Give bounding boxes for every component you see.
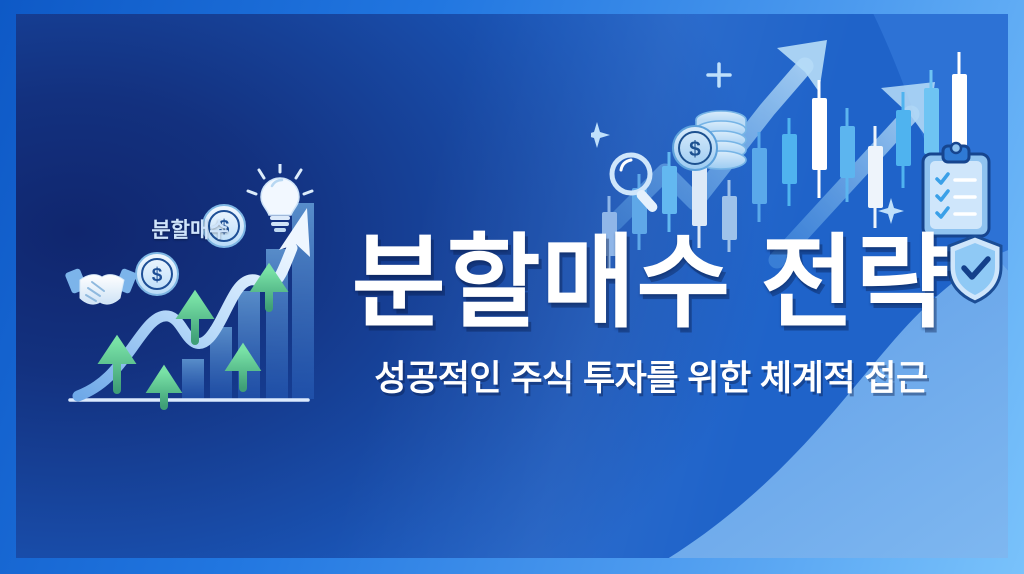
page-subtitle: 성공적인 주식 투자를 위한 체계적 접근	[321, 350, 981, 401]
left-illustration: $ $	[64, 164, 314, 419]
poster-canvas: $ $	[0, 0, 1024, 574]
dollar-coin-icon: $	[136, 253, 178, 295]
clipboard-checklist-icon	[923, 143, 989, 236]
coin-dollar-symbol: $	[152, 265, 163, 286]
coin-stack-dollar-symbol: $	[689, 138, 701, 161]
left-illustration-badge: 분할매수	[125, 214, 255, 244]
candle	[812, 80, 827, 198]
handshake-icon	[64, 268, 137, 304]
sparkle-icon	[591, 122, 610, 148]
hero-text-block: 분할매수 전략 성공적인 주식 투자를 위한 체계적 접근	[321, 232, 981, 401]
candle	[752, 132, 767, 222]
poster-inner-panel: $ $	[16, 14, 1008, 558]
left-growth-chart-graphic: $ $	[64, 164, 314, 419]
plus-sparkle-icon	[708, 64, 730, 86]
candle	[782, 118, 797, 206]
coin-stack-icon: $	[673, 111, 746, 170]
page-title: 분할매수 전략	[321, 232, 981, 334]
